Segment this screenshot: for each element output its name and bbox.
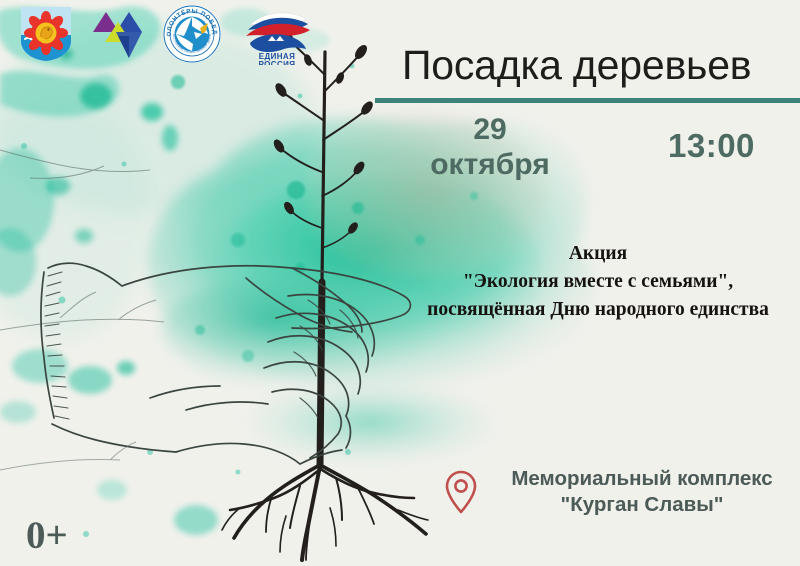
united-russia-logo: ЕДИНАЯ РОССИЯ: [240, 3, 314, 70]
event-date-month: октября: [430, 148, 550, 181]
event-date: 29 октября: [390, 112, 590, 182]
event-time: 13:00: [668, 128, 755, 164]
event-description: Акция "Экология вместе с семьями", посвя…: [398, 240, 798, 324]
triangles-logo: [92, 6, 144, 67]
venue-text: Мемориальный комплекс "Курган Славы": [488, 466, 796, 518]
poster-root: ВОЛОНТЁРЫ ПОБЕДЫ ВСЕРОССИЙСКОЕ ОБЩЕСТВЕН…: [0, 0, 800, 566]
event-date-day: 29: [473, 113, 506, 146]
page-title: Посадка деревьев: [402, 40, 794, 90]
coat-of-arms-logo: [18, 5, 74, 68]
age-rating-badge: 0+: [26, 515, 68, 557]
map-pin-icon: [444, 469, 478, 515]
event-description-line-2: "Экология вместе с семьями",: [398, 268, 798, 296]
venue-line-1: Мемориальный комплекс: [488, 466, 796, 492]
venue-block: Мемориальный комплекс "Курган Славы": [444, 466, 796, 518]
event-description-line-1: Акция: [398, 240, 798, 268]
venue-line-2: "Курган Славы": [488, 492, 796, 518]
united-russia-line2: РОССИЯ: [259, 60, 296, 65]
event-description-line-3: посвящённая Дню народного единства: [398, 296, 798, 324]
title-divider: [375, 98, 800, 103]
logo-bar: ВОЛОНТЁРЫ ПОБЕДЫ ВСЕРОССИЙСКОЕ ОБЩЕСТВЕН…: [18, 4, 314, 68]
volunteers-of-victory-logo: ВОЛОНТЁРЫ ПОБЕДЫ ВСЕРОССИЙСКОЕ ОБЩЕСТВЕН…: [162, 4, 222, 69]
